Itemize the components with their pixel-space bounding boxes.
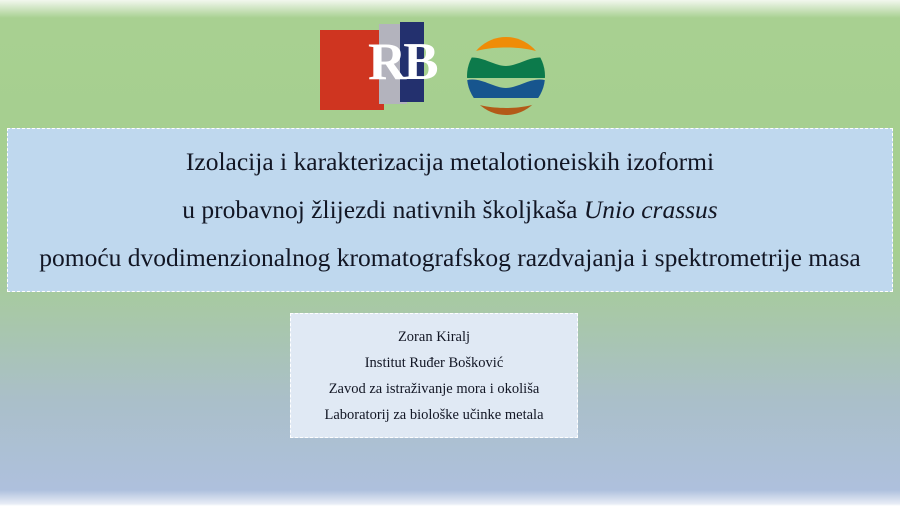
title-line-2: u probavnoj žlijezdi nativnih školjkaša … [182,186,717,234]
author-affiliation-box: Zoran Kiralj Institut Ruđer Bošković Zav… [290,313,578,438]
title-line-3: pomoću dvodimenzionalnog kromatografskog… [39,234,860,282]
author-name: Zoran Kiralj [398,324,470,350]
division-marine-environmental-research-logo [466,36,546,116]
species-name: Unio crassus [584,195,718,224]
author-institute: Institut Ruđer Bošković [365,350,504,376]
rb-logo-letters: RB [368,33,438,95]
author-laboratory: Laboratorij za biološke učinke metala [324,402,543,428]
presentation-slide: RB Izolacija i karakterizacija metalotio… [0,0,900,506]
title-line-2-text: u probavnoj žlijezdi nativnih školjkaša [182,195,584,224]
ruder-boskovic-institute-logo: RB [320,22,424,110]
title-line-1: Izolacija i karakterizacija metalotionei… [186,138,714,186]
logo-row: RB [0,16,900,112]
author-division: Zavod za istraživanje mora i okoliša [329,376,540,402]
title-text-box: Izolacija i karakterizacija metalotionei… [7,128,893,292]
